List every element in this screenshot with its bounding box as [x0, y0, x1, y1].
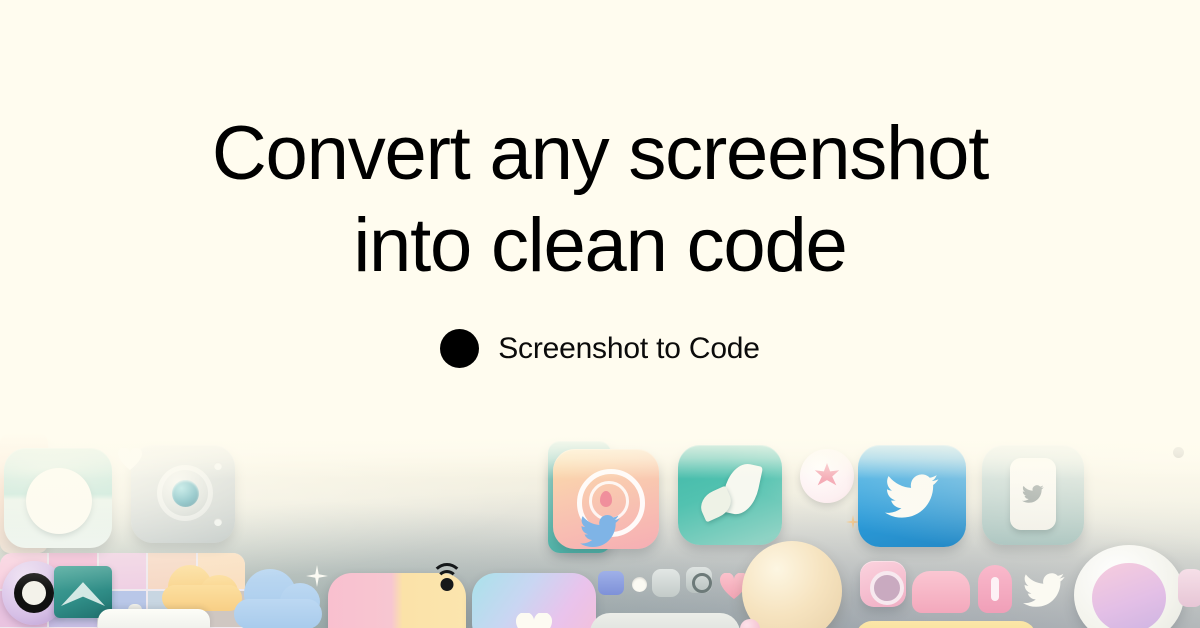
brand-lockup: Screenshot to Code — [440, 329, 760, 368]
gradient-heart-tile — [472, 573, 596, 628]
wifi-icon — [432, 563, 462, 587]
circle-chip — [686, 567, 712, 593]
grey-chip — [652, 569, 680, 597]
bar-icon — [991, 577, 999, 601]
blue-chip — [598, 571, 624, 595]
hero-section: Convert any screenshot into clean code S… — [0, 0, 1200, 440]
white-dot — [632, 577, 647, 592]
grey-slab — [590, 613, 740, 628]
small-twitter-bird — [1020, 569, 1068, 611]
pink-drop-tile — [978, 565, 1012, 613]
eye-dot-icon — [1173, 447, 1184, 458]
brand-name: Screenshot to Code — [498, 332, 760, 366]
headline-line-2: into clean code — [212, 200, 988, 292]
disc-shape — [1092, 563, 1166, 628]
envelope-icon — [61, 580, 105, 606]
pink-camera-tile — [860, 561, 906, 607]
page-title: Convert any screenshot into clean code — [212, 108, 988, 292]
cloud-icon — [234, 599, 322, 628]
headline-line-1: Convert any screenshot — [212, 108, 988, 200]
camera-icon — [870, 571, 904, 605]
pink-pill — [1178, 569, 1200, 607]
heart-icon — [516, 613, 552, 628]
black-circle-logo-icon — [440, 329, 479, 368]
camera-core-icon — [22, 581, 46, 605]
pink-cloud — [912, 571, 970, 613]
yellow-slab — [856, 621, 1036, 628]
white-slab — [98, 609, 210, 628]
app-icon-collage — [0, 433, 1200, 628]
ring-icon — [692, 573, 712, 593]
og-preview-card: Convert any screenshot into clean code S… — [0, 0, 1200, 628]
